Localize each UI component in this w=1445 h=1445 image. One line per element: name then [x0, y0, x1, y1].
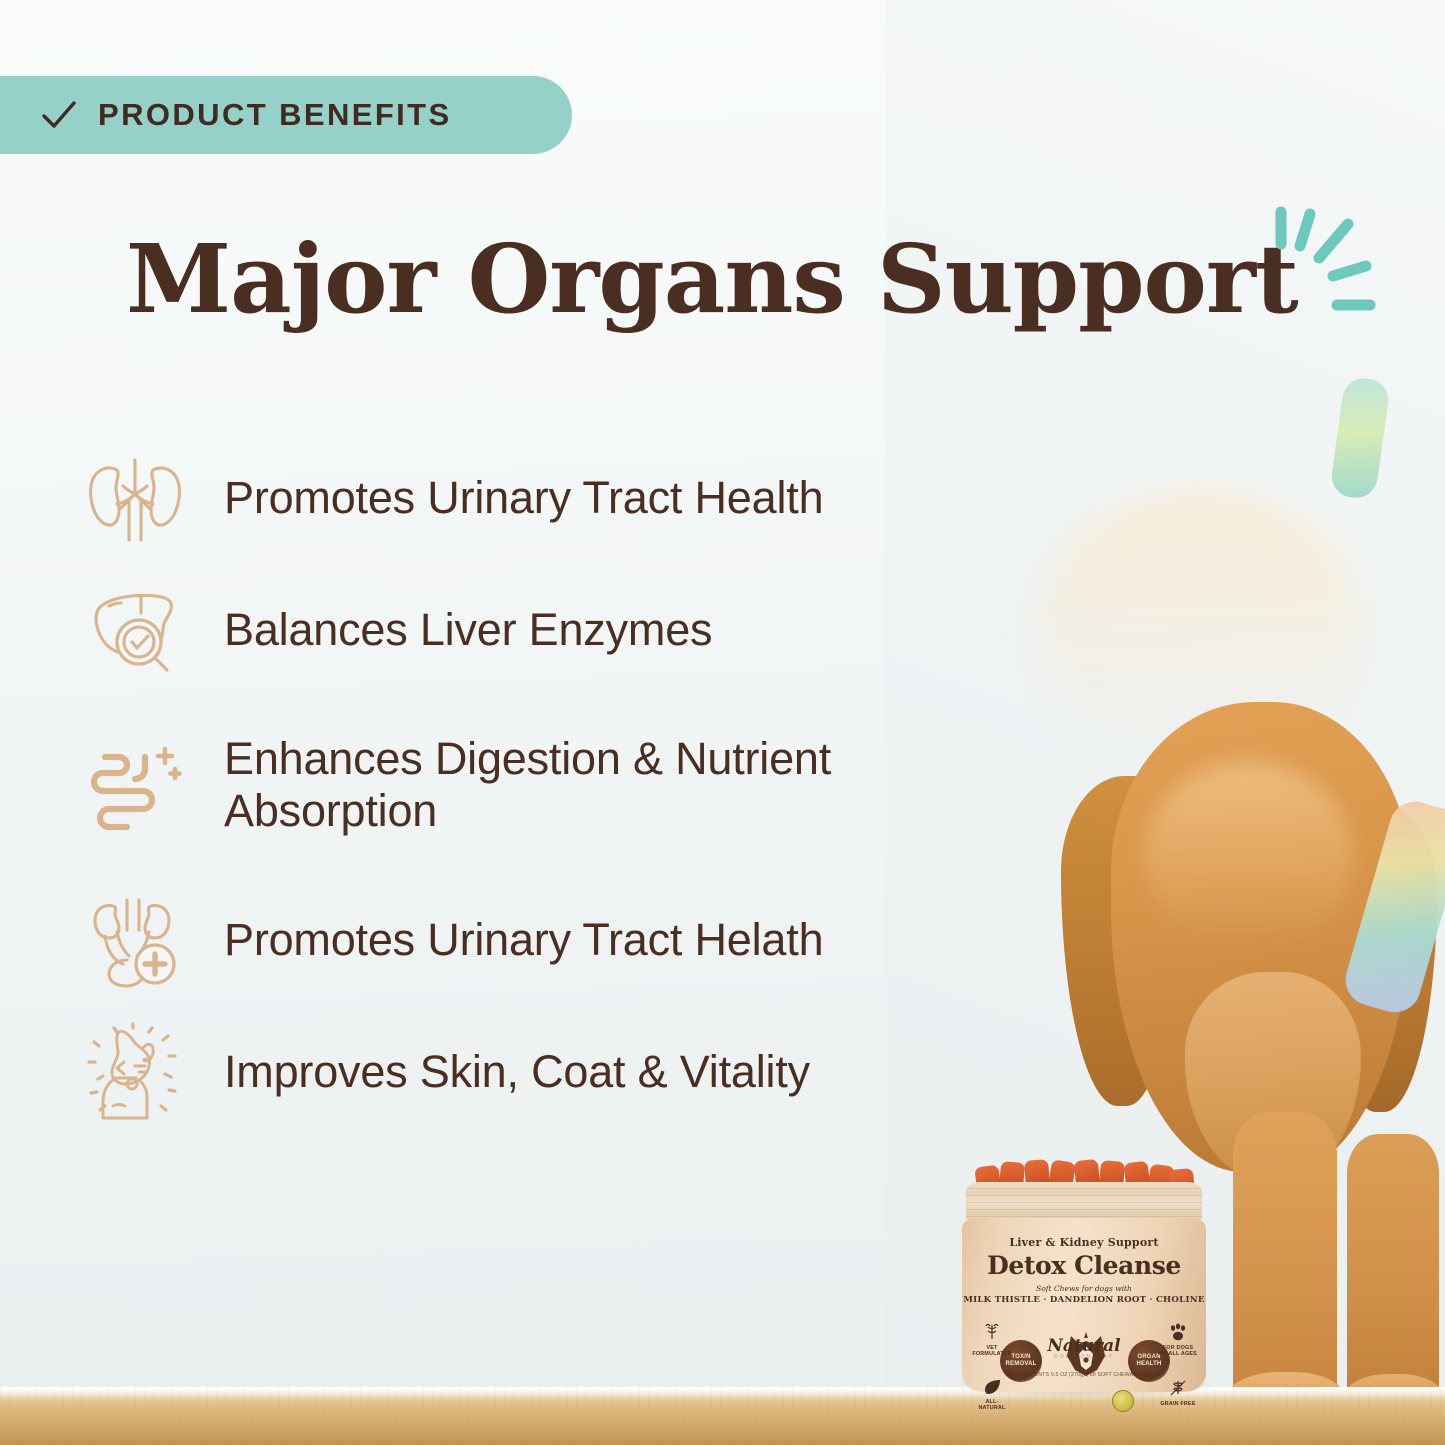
grain-free-badge: GRAIN FREE	[1156, 1378, 1200, 1407]
vet-formulated-badge: VET FORMULATED	[970, 1322, 1014, 1358]
caduceus-icon	[982, 1322, 1002, 1342]
label-subtitle: Soft Chews for dogs with	[962, 1284, 1206, 1293]
benefit-label: Promotes Urinary Tract Helath	[224, 914, 823, 966]
product-jar: Liver & Kidney Support Detox Cleanse Sof…	[960, 1160, 1208, 1392]
benefit-item: Improves Skin, Coat & Vitality	[74, 1006, 1054, 1138]
label-ingredients: MILK THISTLE · DANDELION ROOT · CHOLINE	[962, 1295, 1206, 1305]
jar-body: Liver & Kidney Support Detox Cleanse Sof…	[962, 1218, 1206, 1392]
label-eyebrow: Liver & Kidney Support	[962, 1236, 1206, 1249]
dog-fur-highlight-head	[1143, 762, 1353, 952]
benefits-list: Promotes Urinary Tract Health Balances L…	[74, 432, 1054, 1138]
badge-line1: GRAIN FREE	[1160, 1401, 1195, 1407]
seal-line2: REMOVAL	[1006, 1361, 1037, 1367]
badge-line2: FORMULATED	[972, 1351, 1011, 1357]
benefit-label: Enhances Digestion & Nutrient Absorption	[224, 733, 831, 837]
all-natural-badge: ALL- NATURAL	[970, 1378, 1014, 1412]
badge-line2: NATURAL	[978, 1405, 1005, 1411]
wooden-shelf-grain	[0, 1387, 1445, 1445]
product-benefits-badge: PRODUCT BENEFITS	[0, 76, 572, 154]
badge-label: PRODUCT BENEFITS	[98, 97, 452, 133]
organic-seal-icon	[1112, 1390, 1134, 1412]
badge-line1: ALL-	[985, 1399, 998, 1405]
badge-line1: VET	[986, 1345, 997, 1351]
infographic-canvas: PRODUCT BENEFITS Major Organs Support	[0, 0, 1445, 1445]
benefit-label: Balances Liver Enzymes	[224, 604, 712, 656]
badge-line1: FOR DOGS	[1163, 1345, 1193, 1351]
urinary-plus-icon	[74, 890, 196, 990]
benefit-label: Improves Skin, Coat & Vitality	[224, 1046, 810, 1098]
benefit-item: Enhances Digestion & Nutrient Absorption	[74, 696, 1054, 874]
benefit-item: Promotes Urinary Tract Helath	[74, 874, 1054, 1006]
seal-line2: HEALTH	[1136, 1361, 1161, 1367]
all-ages-badge: FOR DOGS OF ALL AGES	[1156, 1322, 1200, 1358]
intestines-icon	[74, 735, 196, 835]
label-title: Detox Cleanse	[962, 1251, 1206, 1280]
badge-line2: OF ALL AGES	[1159, 1351, 1197, 1357]
leaf-icon	[982, 1378, 1002, 1396]
check-icon	[42, 100, 76, 130]
page-title: Major Organs Support	[126, 232, 1298, 327]
paw-icon	[1168, 1322, 1188, 1342]
kidneys-icon	[74, 450, 196, 546]
benefit-item: Promotes Urinary Tract Health	[74, 432, 1054, 564]
jar-label: Liver & Kidney Support Detox Cleanse Sof…	[962, 1218, 1206, 1392]
benefit-label: Promotes Urinary Tract Health	[224, 472, 823, 524]
dog-sparkle-icon	[74, 1022, 196, 1122]
dog-leg-right	[1347, 1134, 1439, 1392]
benefit-item: Balances Liver Enzymes	[74, 564, 1054, 696]
dog-leg-left	[1233, 1112, 1337, 1392]
sparkle-burst-icon	[1262, 196, 1412, 336]
grain-free-icon	[1168, 1378, 1188, 1398]
benefit-label-line2: Absorption	[224, 785, 831, 837]
benefit-label-line1: Enhances Digestion & Nutrient	[224, 733, 831, 784]
collar-top-strap	[1329, 375, 1391, 500]
liver-check-icon	[74, 584, 196, 676]
